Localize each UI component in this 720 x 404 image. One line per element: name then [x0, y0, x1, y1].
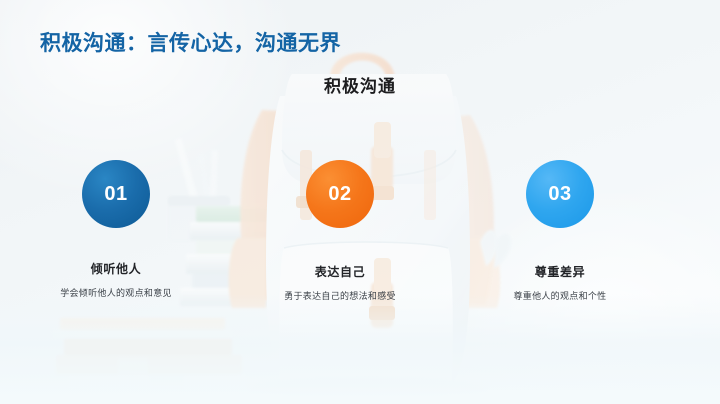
item-02-number: 02	[328, 183, 351, 206]
item-01-title: 倾听他人	[21, 260, 211, 277]
item-03-description: 尊重他人的观点和个性	[465, 289, 655, 302]
presentation-slide: 积极沟通：言传心达，沟通无界 积极沟通 01 倾听他人 学会倾听他人的观点和意见…	[0, 0, 720, 404]
item-01-number: 01	[104, 183, 127, 206]
item-03[interactable]: 03 尊重差异 尊重他人的观点和个性	[465, 160, 655, 302]
item-01-description: 学会倾听他人的观点和意见	[21, 286, 211, 299]
item-01-badge[interactable]: 01	[82, 160, 150, 228]
item-02[interactable]: 02 表达自己 勇于表达自己的想法和感受	[245, 160, 435, 302]
item-03-badge[interactable]: 03	[526, 160, 594, 228]
item-02-description: 勇于表达自己的想法和感受	[245, 289, 435, 302]
items-container: 01 倾听他人 学会倾听他人的观点和意见 02 表达自己 勇于表达自己的想法和感…	[0, 0, 720, 404]
item-03-title: 尊重差异	[465, 263, 655, 280]
item-02-badge[interactable]: 02	[306, 160, 374, 228]
item-01[interactable]: 01 倾听他人 学会倾听他人的观点和意见	[21, 160, 211, 299]
item-03-number: 03	[548, 183, 571, 206]
item-02-title: 表达自己	[245, 263, 435, 280]
